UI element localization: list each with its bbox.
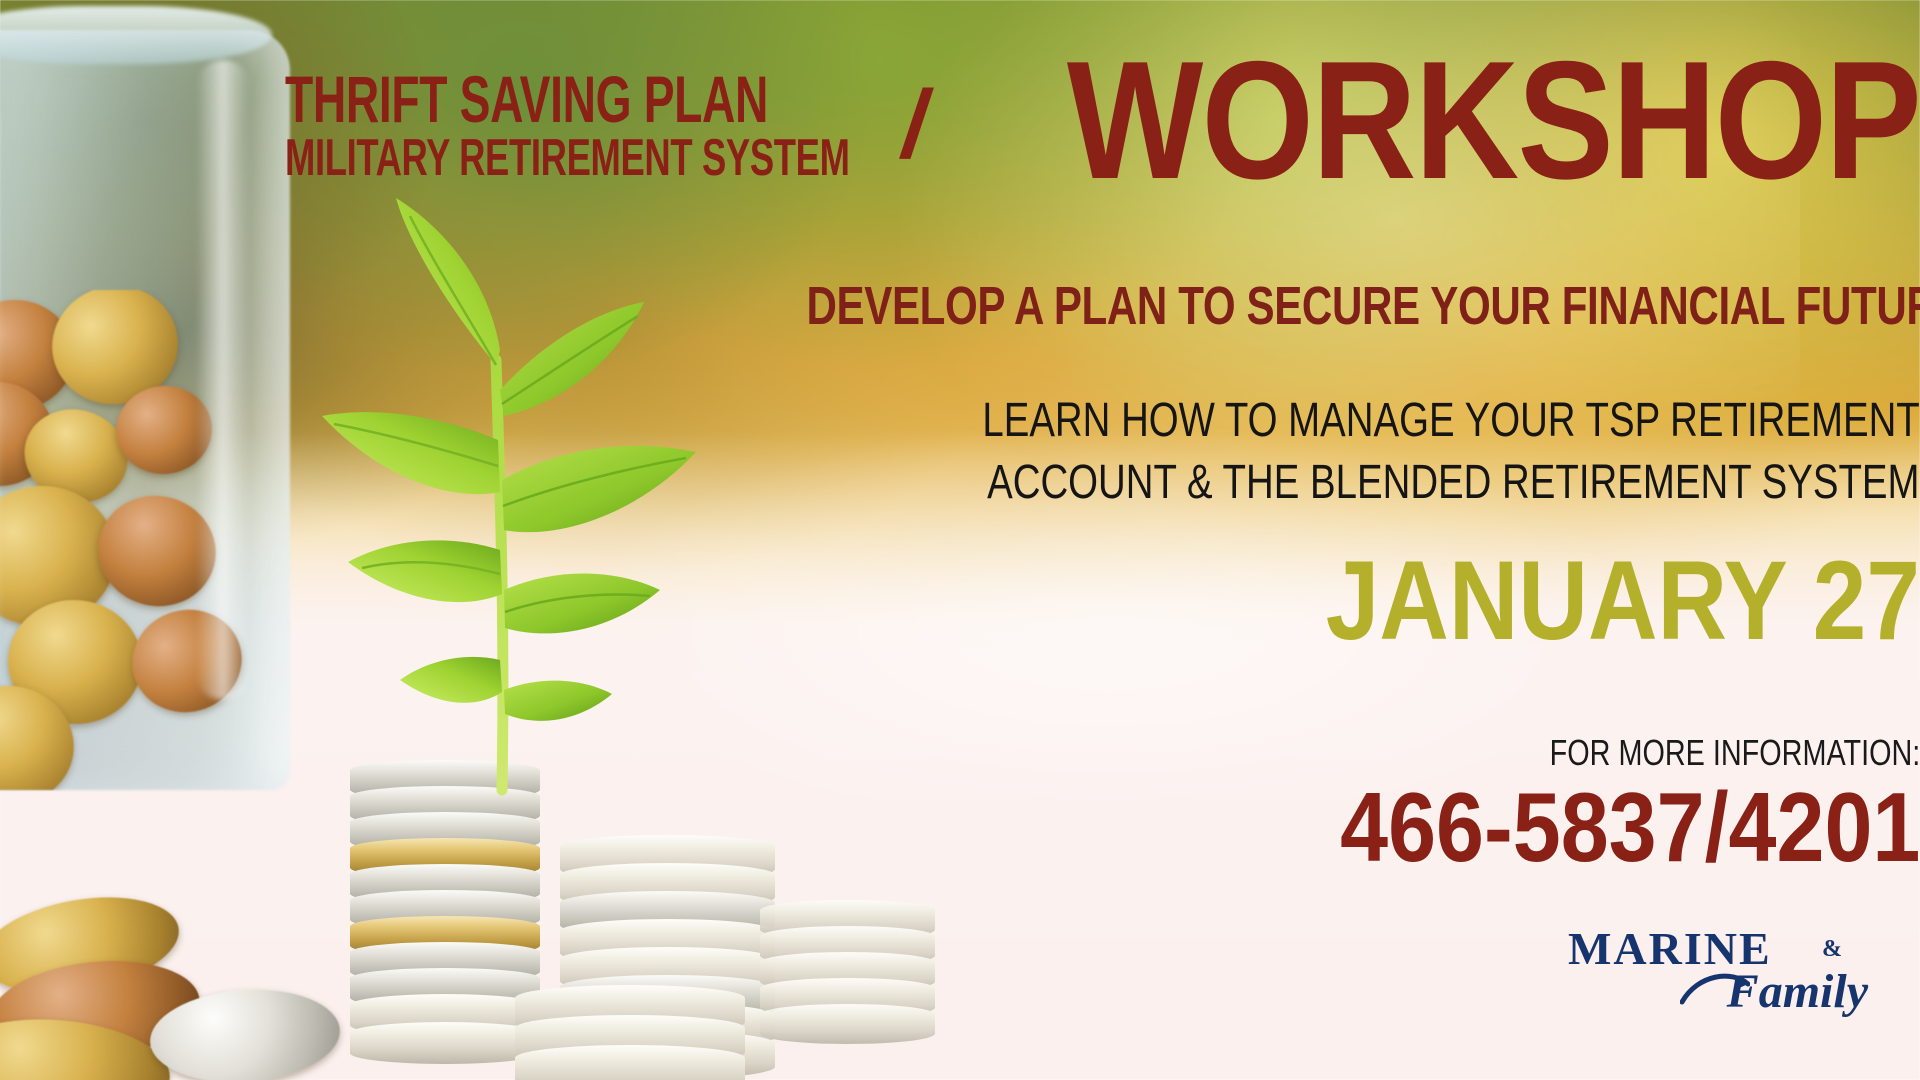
logo-family-text: Family bbox=[1727, 964, 1868, 1019]
logo-ampersand: & bbox=[1822, 936, 1842, 963]
headline-line1: THRIFT SAVING PLAN bbox=[285, 68, 712, 131]
headline-slash: / bbox=[894, 87, 935, 190]
body-copy: LEARN HOW TO MANAGE YOUR TSP RETIREMENT … bbox=[480, 390, 1920, 515]
event-date-text: JANUARY 27 bbox=[1326, 545, 1920, 657]
headline-small-block: THRIFT SAVING PLAN MILITARY RETIREMENT S… bbox=[285, 68, 895, 190]
subheading-text: DEVELOP A PLAN TO SECURE YOUR FINANCIAL … bbox=[807, 275, 1920, 337]
coin-jar-image bbox=[0, 0, 320, 810]
headline-line1-wrap: THRIFT SAVING PLAN bbox=[285, 68, 895, 132]
headline-row: THRIFT SAVING PLAN MILITARY RETIREMENT S… bbox=[480, 52, 1920, 190]
body-line-1: LEARN HOW TO MANAGE YOUR TSP RETIREMENT bbox=[480, 390, 1920, 452]
headline-workshop: WORKSHOP bbox=[1067, 52, 1920, 190]
jar-highlight-left bbox=[0, 110, 4, 630]
contact-label: FOR MORE INFORMATION: bbox=[480, 735, 1920, 771]
jar-rim bbox=[0, 6, 272, 64]
contact-phone-text: 466-5837/4201 bbox=[1340, 778, 1920, 876]
subheading: DEVELOP A PLAN TO SECURE YOUR FINANCIAL … bbox=[480, 275, 1920, 337]
jar-highlight bbox=[196, 60, 250, 700]
headline-line2-wrap: MILITARY RETIREMENT SYSTEM bbox=[285, 132, 895, 182]
body-line-2: ACCOUNT & THE BLENDED RETIREMENT SYSTEM bbox=[480, 452, 1920, 514]
loose-coins-group bbox=[0, 870, 400, 1080]
event-date: JANUARY 27 bbox=[480, 545, 1920, 657]
contact-phone[interactable]: 466-5837/4201 bbox=[480, 778, 1920, 876]
headline-line2: MILITARY RETIREMENT SYSTEM bbox=[285, 134, 712, 184]
marine-and-family-logo: MARINE & Family bbox=[1568, 918, 1868, 1028]
poster-canvas: THRIFT SAVING PLAN MILITARY RETIREMENT S… bbox=[0, 0, 1920, 1080]
contact-label-text: FOR MORE INFORMATION: bbox=[1549, 735, 1920, 771]
